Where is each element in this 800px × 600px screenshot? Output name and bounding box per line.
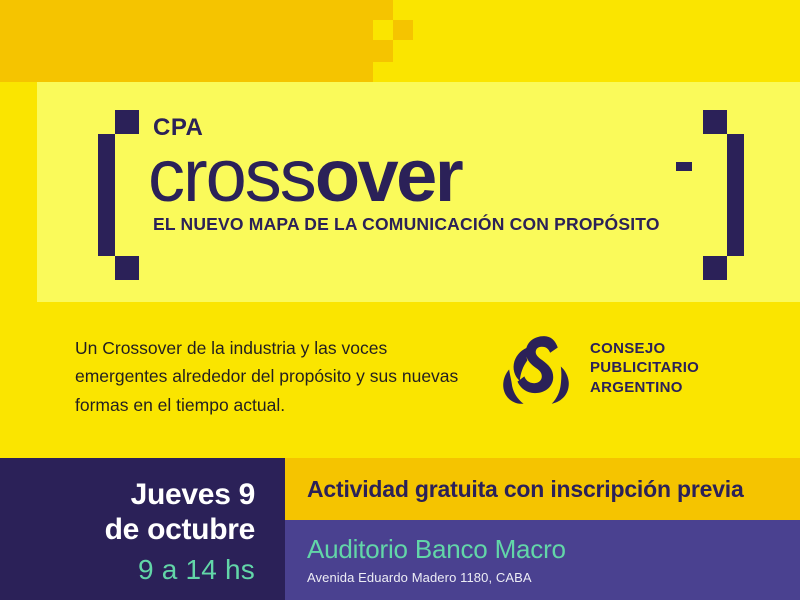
bracket-right-bottom-square — [703, 256, 727, 280]
org-line-1: CONSEJO — [590, 339, 699, 359]
event-date-line-1: Jueves 9 — [105, 478, 255, 513]
crossover-word: cross over — [148, 142, 690, 210]
event-poster: CPA cross over EL NUEVO MAPA DE LA COMUN… — [0, 0, 800, 600]
description-text: Un Crossover de la industria y las voces… — [75, 334, 465, 419]
word-over: over — [315, 142, 461, 210]
org-line-3: ARGENTINO — [590, 378, 699, 398]
logo-lockup: CPA cross over EL NUEVO MAPA DE LA COMUN… — [82, 110, 760, 280]
amber-step-square-a — [373, 0, 393, 20]
consejo-publicitario-name: CONSEJO PUBLICITARIO ARGENTINO — [590, 339, 699, 398]
event-date-line-2: de octubre — [105, 513, 255, 548]
crossover-wordmark: CPA cross over EL NUEVO MAPA DE LA COMUN… — [150, 110, 690, 280]
r-flag-accent — [676, 162, 692, 171]
registration-note: Actividad gratuita con inscripción previ… — [307, 476, 744, 503]
event-date: Jueves 9 de octubre — [105, 478, 255, 548]
amber-top-block — [0, 0, 373, 82]
bracket-left-top-square — [115, 110, 139, 134]
bracket-right-bar — [727, 134, 744, 256]
amber-step-square-b — [373, 40, 393, 62]
bracket-right-top-square — [703, 110, 727, 134]
date-panel: Jueves 9 de octubre 9 a 14 hs — [0, 458, 285, 600]
amber-step-square-c — [393, 20, 413, 40]
bracket-right-icon — [698, 110, 760, 280]
consejo-publicitario-logo: CONSEJO PUBLICITARIO ARGENTINO — [500, 330, 699, 406]
bracket-left-bottom-square — [115, 256, 139, 280]
logo-panel: CPA cross over EL NUEVO MAPA DE LA COMUN… — [37, 82, 800, 302]
registration-band: Actividad gratuita con inscripción previ… — [285, 458, 800, 520]
bracket-left-bar — [98, 134, 115, 256]
bracket-left-icon — [82, 110, 144, 280]
venue-address: Avenida Eduardo Madero 1180, CABA — [307, 570, 532, 585]
word-cross: cross — [148, 142, 315, 210]
venue-name: Auditorio Banco Macro — [307, 534, 566, 565]
cpa-swirl-icon — [500, 330, 576, 406]
logo-tagline: EL NUEVO MAPA DE LA COMUNICACIÓN CON PRO… — [153, 214, 690, 235]
yellow-notch-square — [373, 20, 393, 40]
event-time: 9 a 14 hs — [105, 554, 255, 586]
org-line-2: PUBLICITARIO — [590, 358, 699, 378]
description-section: Un Crossover de la industria y las voces… — [0, 302, 800, 458]
date-block: Jueves 9 de octubre 9 a 14 hs — [105, 478, 255, 586]
venue-band: Auditorio Banco Macro Avenida Eduardo Ma… — [285, 520, 800, 600]
